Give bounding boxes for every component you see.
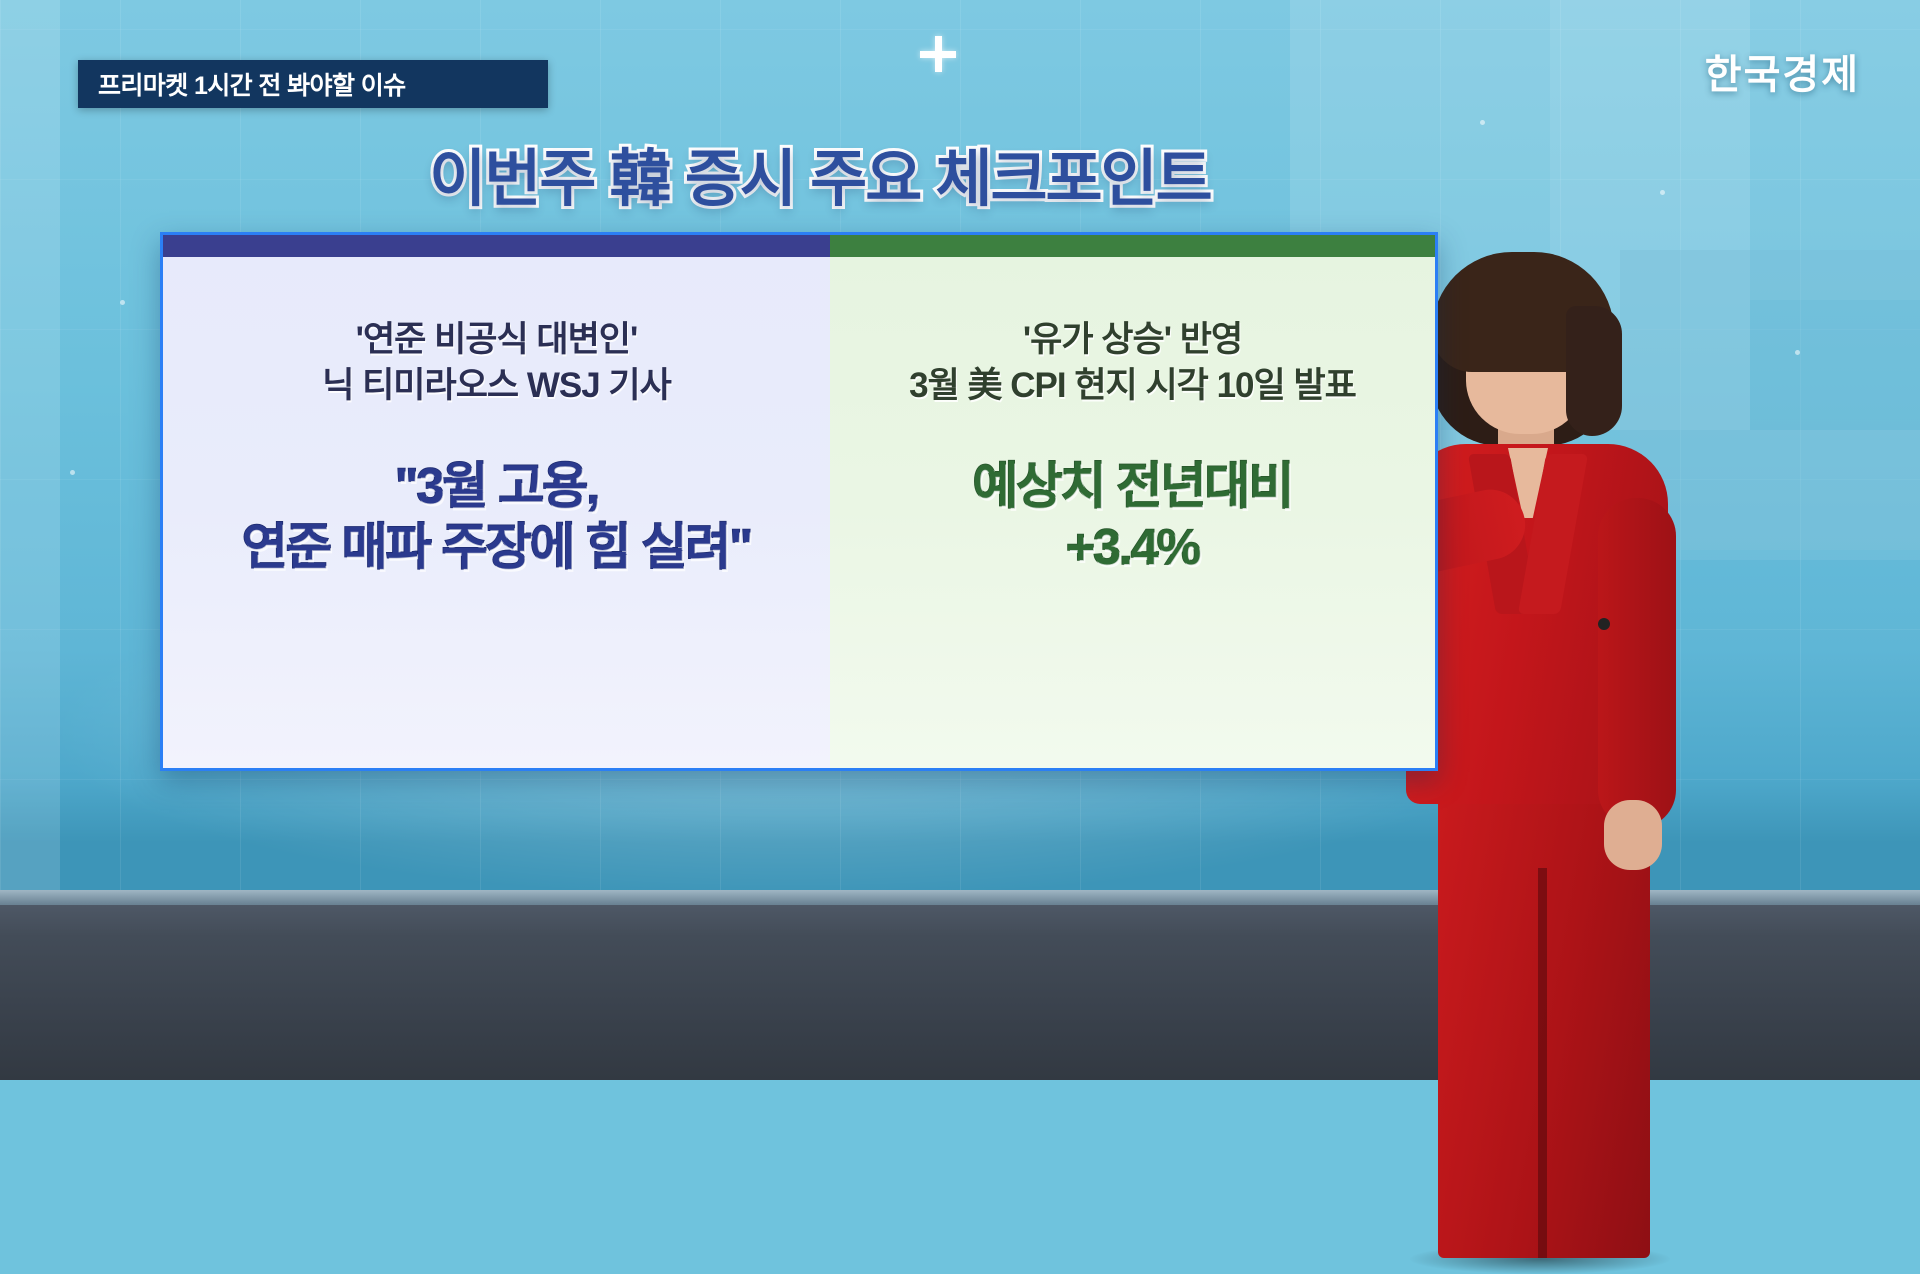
presenter-microphone-icon xyxy=(1598,618,1610,630)
column-accent-bar-right xyxy=(830,235,1435,257)
presenter-arm-right xyxy=(1598,498,1676,828)
right-main-line-1: 예상치 전년대비 xyxy=(973,456,1293,517)
checkpoint-card: '연준 비공식 대변인' 닉 티미라오스 WSJ 기사 "3월 고용, 연준 매… xyxy=(160,232,1438,771)
right-subtitle-line-2: 3월 美 CPI 현지 시각 10일 발표 xyxy=(909,363,1356,409)
left-subtitle-line-2: 닉 티미라오스 WSJ 기사 xyxy=(322,363,671,409)
right-subtitle-line-1: '유가 상승' 반영 xyxy=(909,317,1356,363)
broadcaster-logo: 한국경제 xyxy=(1705,42,1860,100)
left-main-line-2: 연준 매파 주장에 힘 실려" xyxy=(242,517,751,578)
left-main-line-1: "3월 고용, xyxy=(242,456,751,517)
checkpoint-column-left: '연준 비공식 대변인' 닉 티미라오스 WSJ 기사 "3월 고용, 연준 매… xyxy=(163,235,830,768)
background-dot xyxy=(1795,350,1800,355)
presenter-hair-side xyxy=(1566,306,1622,436)
left-subtitle: '연준 비공식 대변인' 닉 티미라오스 WSJ 기사 xyxy=(322,317,671,408)
program-banner: 프리마켓 1시간 전 봐야할 이슈 xyxy=(78,60,548,108)
checkpoint-column-right: '유가 상승' 반영 3월 美 CPI 현지 시각 10일 발표 예상치 전년대… xyxy=(830,235,1435,768)
right-main-value: 예상치 전년대비 +3.4% xyxy=(973,456,1293,578)
background-dot xyxy=(120,300,125,305)
program-banner-label: 프리마켓 1시간 전 봐야할 이슈 xyxy=(98,66,406,102)
presenter-hand-right xyxy=(1604,800,1662,870)
left-main-quote: "3월 고용, 연준 매파 주장에 힘 실려" xyxy=(242,456,751,578)
background-dot xyxy=(1660,190,1665,195)
column-accent-bar-left xyxy=(163,235,830,257)
page-title: 이번주 韓 증시 주요 체크포인트 xyxy=(290,128,1350,218)
left-subtitle-line-1: '연준 비공식 대변인' xyxy=(322,317,671,363)
background-dot xyxy=(70,470,75,475)
right-subtitle: '유가 상승' 반영 3월 美 CPI 현지 시각 10일 발표 xyxy=(909,317,1356,408)
background-dot xyxy=(1480,120,1485,125)
plus-marker-icon xyxy=(920,36,956,72)
presenter-leg-gap xyxy=(1538,868,1547,1258)
right-main-line-2: +3.4% xyxy=(973,517,1293,578)
